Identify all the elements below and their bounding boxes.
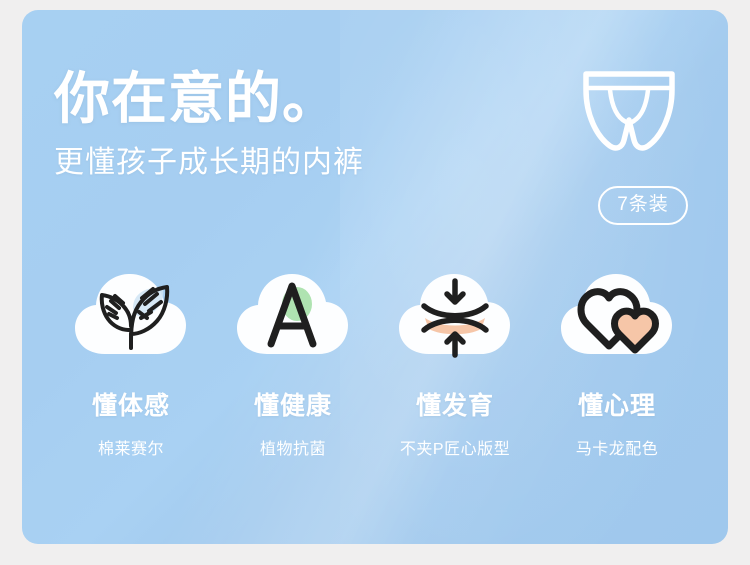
feature-subtitle: 棉莱赛尔 [98,435,164,459]
feature-list: 懂体感 棉莱赛尔 懂健康 [22,268,728,459]
feature-title: 懂发育 [416,386,494,422]
feature-title: 懂心理 [578,386,656,422]
feature-title: 懂健康 [254,386,332,422]
feature-subtitle: 植物抗菌 [260,435,326,459]
headline-block: 你在意的。 更懂孩子成长期的内裤 [54,68,364,181]
feature-item: 懂心理 马卡龙配色 [542,268,692,459]
page-subtitle: 更懂孩子成长期的内裤 [54,145,364,181]
double-heart-icon [557,268,677,360]
pack-count-badge: 7条装 [598,186,688,225]
feature-item: 懂体感 棉莱赛尔 [56,268,206,459]
feature-subtitle: 不夹P匠心版型 [400,435,510,459]
promo-card-inner: 你在意的。 更懂孩子成长期的内裤 7条装 [22,10,728,544]
feature-item: 懂发育 不夹P匠心版型 [380,268,530,459]
letter-a-icon [233,268,353,360]
feature-subtitle: 马卡龙配色 [576,435,659,459]
stretch-arrows-icon [395,268,515,360]
page-title: 你在意的。 [54,68,364,131]
banner-stage: 你在意的。 更懂孩子成长期的内裤 7条装 [0,0,750,565]
underwear-icon [576,64,682,156]
promo-card: 你在意的。 更懂孩子成长期的内裤 7条装 [22,10,728,544]
feature-item: 懂健康 植物抗菌 [218,268,368,459]
feature-title: 懂体感 [92,386,170,422]
leaf-icon [71,268,191,360]
